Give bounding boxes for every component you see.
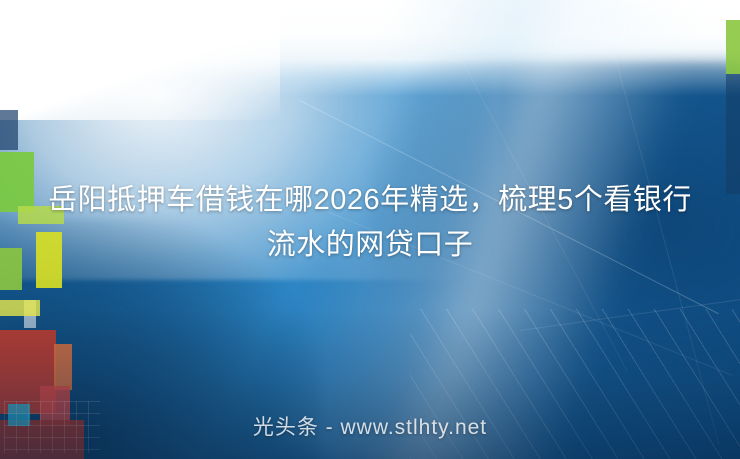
image-title: 岳阳抵押车借钱在哪2026年精选，梳理5个看银行流水的网贷口子 — [36, 178, 704, 268]
title-container: 岳阳抵押车借钱在哪2026年精选，梳理5个看银行流水的网贷口子 — [0, 178, 740, 268]
background-top-left-highlight — [0, 0, 280, 120]
decorative-block-dark-right — [726, 74, 740, 194]
image-canvas: 岳阳抵押车借钱在哪2026年精选，梳理5个看银行流水的网贷口子 光头条 - ww… — [0, 0, 740, 459]
decorative-block-navy — [0, 110, 18, 150]
decorative-block-green-right — [726, 20, 740, 74]
watermark-text: 光头条 - www.stlhty.net — [0, 411, 740, 441]
